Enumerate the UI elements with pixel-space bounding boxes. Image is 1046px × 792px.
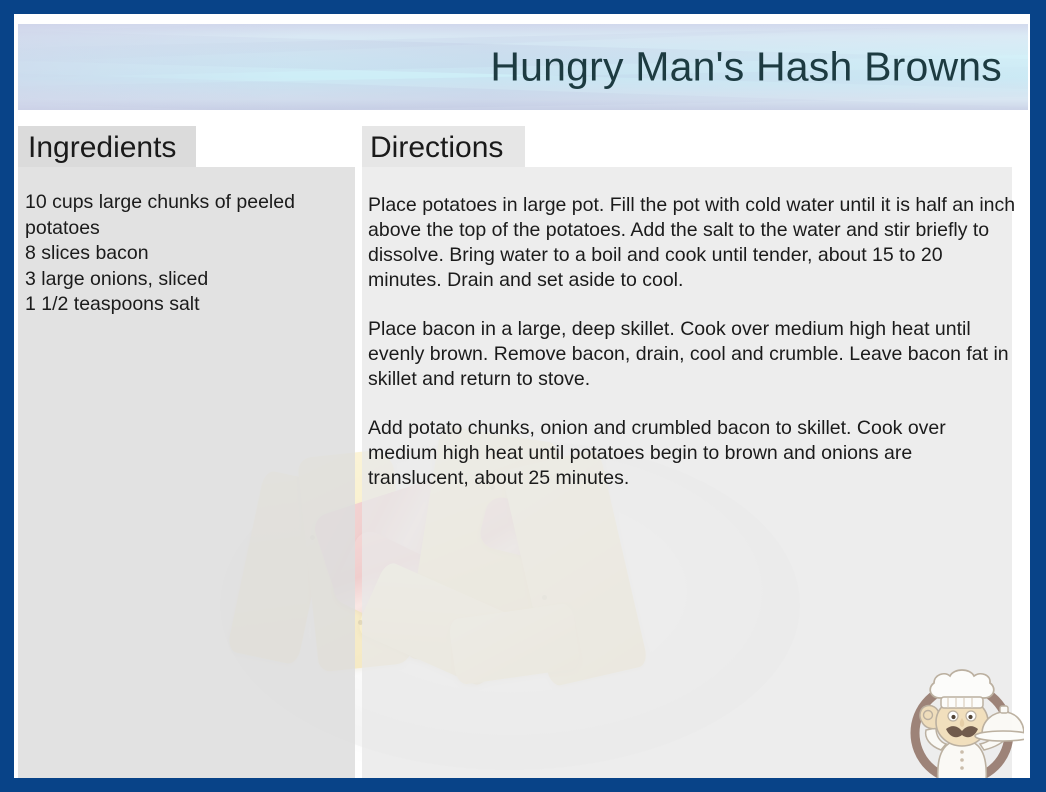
list-item: 1 1/2 teaspoons salt [25, 292, 340, 318]
slide-border-right [1030, 0, 1046, 792]
recipe-title: Hungry Man's Hash Browns [490, 45, 1002, 88]
recipe-slide: Hungry Man's Hash Browns Ingredients Dir… [0, 0, 1046, 792]
direction-step: Place bacon in a large, deep skillet. Co… [368, 317, 1018, 392]
ingredients-heading: Ingredients [28, 133, 176, 163]
slide-border-bottom [0, 778, 1046, 792]
chef-logo-icon [900, 654, 1024, 786]
slide-border-top [0, 0, 1046, 14]
directions-heading: Directions [370, 133, 503, 163]
direction-step: Place potatoes in large pot. Fill the po… [368, 193, 1018, 293]
list-item: 10 cups large chunks of peeled potatoes [25, 190, 340, 241]
direction-step: Add potato chunks, onion and crumbled ba… [368, 416, 1018, 491]
list-item: 3 large onions, sliced [25, 267, 340, 293]
directions-text: Place potatoes in large pot. Fill the po… [368, 193, 1018, 491]
slide-border-left [0, 0, 14, 792]
title-banner: Hungry Man's Hash Browns [18, 24, 1028, 110]
list-item: 8 slices bacon [25, 241, 340, 267]
ingredients-list: 10 cups large chunks of peeled potatoes … [25, 190, 340, 318]
